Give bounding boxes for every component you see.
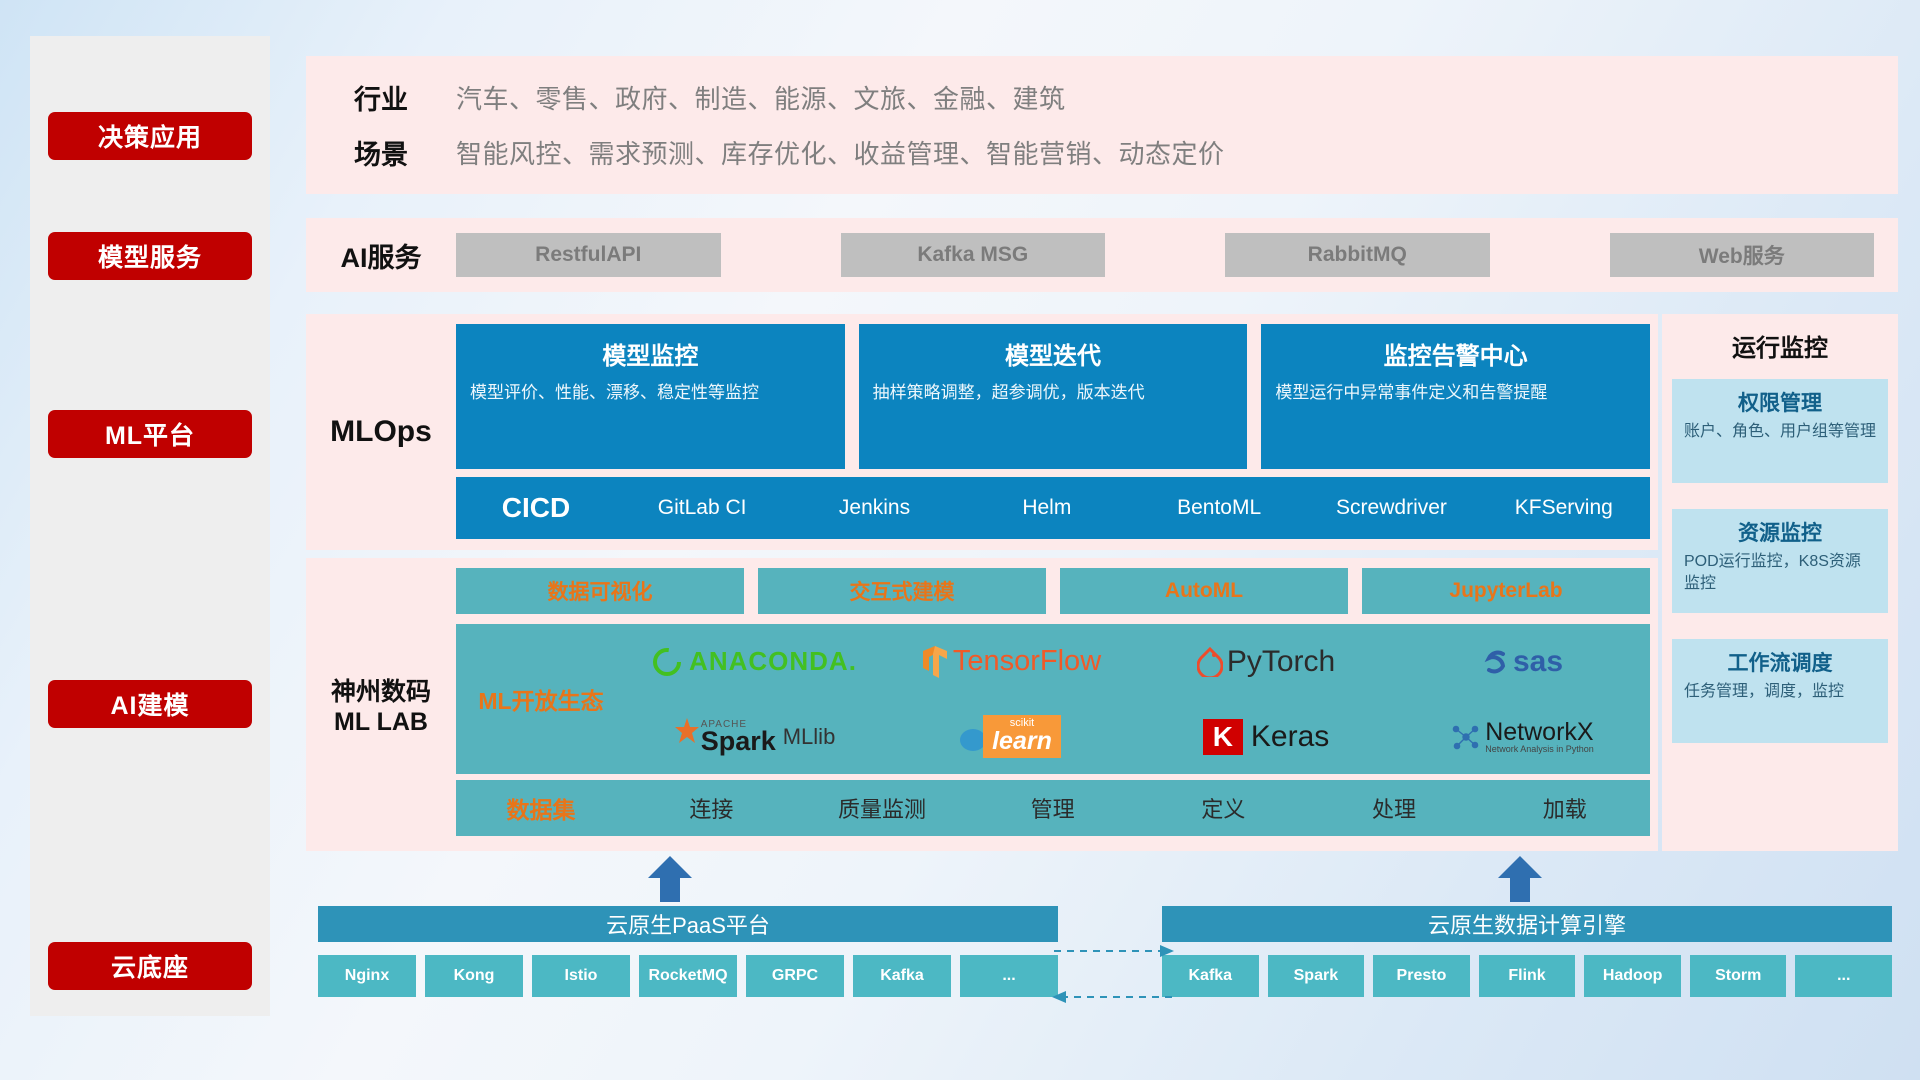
dataset-item-define[interactable]: 定义	[1138, 792, 1309, 824]
tool-tab-jupyterlab[interactable]: JupyterLab	[1362, 568, 1650, 614]
chip-rocketmq[interactable]: RocketMQ	[639, 955, 737, 997]
logo-spark-mllib[interactable]: APACHE Spark MLlib	[626, 717, 882, 757]
arrow-up-dataengine-icon	[1490, 856, 1550, 902]
card-title: 工作流调度	[1684, 647, 1876, 677]
logo-text: PyTorch	[1227, 645, 1335, 679]
logo-text: TensorFlow	[953, 645, 1101, 678]
data-engine-chip-row: Kafka Spark Presto Flink Hadoop Storm ..…	[1162, 955, 1892, 997]
card-title: 模型迭代	[873, 336, 1234, 371]
mllab-label-line2: ML LAB	[334, 708, 428, 737]
mlops-label: MLOps	[330, 415, 432, 449]
logo-grid: ANACONDA. TensorFlow PyTorch	[626, 624, 1650, 774]
logo-text: Spark	[701, 729, 776, 753]
cicd-item-gitlab-ci[interactable]: GitLab CI	[616, 497, 788, 519]
logo-sub: Network Analysis in Python	[1485, 745, 1594, 754]
mlops-card-model-monitoring[interactable]: 模型监控 模型评价、性能、漂移、稳定性等监控	[456, 324, 845, 469]
band-decision-apps: 行业 汽车、零售、政府、制造、能源、文旅、金融、建筑 场景 智能风控、需求预测、…	[306, 56, 1898, 194]
chip-kong[interactable]: Kong	[425, 955, 523, 997]
cicd-item-jenkins[interactable]: Jenkins	[788, 497, 960, 519]
scenario-value: 智能风控、需求预测、库存优化、收益管理、智能营销、动态定价	[456, 134, 1225, 171]
tool-tab-data-visualization[interactable]: 数据可视化	[456, 568, 744, 614]
stage-chip-ml-platform[interactable]: ML平台	[48, 410, 252, 458]
card-desc: POD运行监控，K8S资源监控	[1684, 551, 1876, 596]
logo-anaconda[interactable]: ANACONDA.	[626, 646, 882, 678]
stage-chip-label: 云底座	[111, 948, 189, 984]
chip-kafka[interactable]: Kafka	[1162, 955, 1259, 997]
paas-chip-row: Nginx Kong Istio RocketMQ GRPC Kafka ...	[318, 955, 1058, 997]
logo-sas[interactable]: sas	[1394, 645, 1650, 679]
cicd-item-helm[interactable]: Helm	[961, 497, 1133, 519]
stage-chip-label: AI建模	[110, 686, 189, 722]
chip-more[interactable]: ...	[1795, 955, 1892, 997]
chip-kafka[interactable]: Kafka	[853, 955, 951, 997]
cicd-item-kfserving[interactable]: KFServing	[1478, 497, 1650, 519]
cicd-bar: CICD GitLab CI Jenkins Helm BentoML Scre…	[456, 477, 1650, 539]
dataset-item-process[interactable]: 处理	[1309, 792, 1480, 824]
logo-scikit-learn[interactable]: scikit learn	[882, 715, 1138, 758]
monitoring-card-permissions[interactable]: 权限管理 账户、角色、用户组等管理	[1672, 379, 1888, 483]
dataset-item-connect[interactable]: 连接	[626, 792, 797, 824]
tensorflow-icon	[919, 645, 949, 679]
card-desc: 抽样策略调整，超参调优，版本迭代	[873, 381, 1234, 406]
monitoring-card-resources[interactable]: 资源监控 POD运行监控，K8S资源监控	[1672, 509, 1888, 613]
ai-service-web[interactable]: Web服务	[1610, 233, 1875, 277]
ai-service-label-text: RabbitMQ	[1308, 243, 1407, 267]
sas-icon	[1481, 647, 1511, 677]
cloud-connector-arrows-icon	[1050, 935, 1176, 1015]
chip-nginx[interactable]: Nginx	[318, 955, 416, 997]
cicd-title: CICD	[456, 492, 616, 524]
architecture-diagram: 决策应用 模型服务 ML平台 AI建模 云底座 行业 汽车、零售、政府、制造、能…	[0, 0, 1920, 1080]
stage-chip-model-service[interactable]: 模型服务	[48, 232, 252, 280]
eco-label: ML开放生态	[456, 624, 626, 774]
dataset-item-manage[interactable]: 管理	[967, 792, 1138, 824]
logo-text: NetworkX	[1485, 719, 1593, 745]
scenario-row: 场景 智能风控、需求预测、库存优化、收益管理、智能营销、动态定价	[306, 125, 1898, 180]
ai-service-label-text: RestfulAPI	[535, 243, 641, 267]
ai-service-rabbitmq[interactable]: RabbitMQ	[1225, 233, 1490, 277]
card-desc: 任务管理，调度，监控	[1684, 681, 1876, 703]
mllab-label-line1: 神州数码	[331, 672, 431, 708]
stage-chip-decision[interactable]: 决策应用	[48, 112, 252, 160]
arrow-up-paas-icon	[640, 856, 700, 902]
industry-label: 行业	[306, 78, 456, 117]
logo-networkx[interactable]: NetworkX Network Analysis in Python	[1394, 719, 1650, 755]
card-title: 模型监控	[470, 336, 831, 371]
chip-istio[interactable]: Istio	[532, 955, 630, 997]
monitoring-header: 运行监控	[1672, 328, 1888, 363]
chip-hadoop[interactable]: Hadoop	[1584, 955, 1681, 997]
ai-service-label-text: Web服务	[1699, 240, 1785, 270]
industry-value: 汽车、零售、政府、制造、能源、文旅、金融、建筑	[456, 79, 1066, 116]
spark-star-icon	[673, 717, 701, 745]
logo-text: learn	[992, 729, 1052, 754]
stage-chip-cloud-base[interactable]: 云底座	[48, 942, 252, 990]
card-title: 权限管理	[1684, 387, 1876, 417]
dataset-bar: 数据集 连接 质量监测 管理 定义 处理 加载	[456, 780, 1650, 836]
card-desc: 模型运行中异常事件定义和告警提醒	[1275, 381, 1636, 406]
chip-presto[interactable]: Presto	[1373, 955, 1470, 997]
stage-chip-ai-modeling[interactable]: AI建模	[48, 680, 252, 728]
logo-text: Keras	[1251, 720, 1329, 754]
chip-spark[interactable]: Spark	[1268, 955, 1365, 997]
mlops-card-alert-center[interactable]: 监控告警中心 模型运行中异常事件定义和告警提醒	[1261, 324, 1650, 469]
band-mlops: MLOps 模型监控 模型评价、性能、漂移、稳定性等监控 模型迭代 抽样策略调整…	[306, 314, 1658, 550]
scenario-label: 场景	[306, 133, 456, 172]
anaconda-icon	[651, 646, 683, 678]
card-desc: 账户、角色、用户组等管理	[1684, 421, 1876, 443]
stage-rail: 决策应用 模型服务 ML平台 AI建模 云底座	[30, 36, 270, 1016]
paas-title-bar[interactable]: 云原生PaaS平台	[318, 906, 1058, 942]
chip-more[interactable]: ...	[960, 955, 1058, 997]
logo-suffix: MLlib	[783, 724, 836, 750]
logo-text: ANACONDA.	[689, 646, 857, 677]
band-model-service: AI服务 RestfulAPI Kafka MSG RabbitMQ Web服务	[306, 218, 1898, 292]
logo-keras[interactable]: K Keras	[1138, 719, 1394, 755]
card-title: 资源监控	[1684, 517, 1876, 547]
dataset-item-load[interactable]: 加载	[1479, 792, 1650, 824]
stage-chip-label: 模型服务	[98, 238, 202, 274]
industry-row: 行业 汽车、零售、政府、制造、能源、文旅、金融、建筑	[306, 70, 1898, 125]
ai-service-kafka-msg[interactable]: Kafka MSG	[841, 233, 1106, 277]
logo-tensorflow[interactable]: TensorFlow	[882, 645, 1138, 679]
band-ai-modeling: 神州数码 ML LAB 数据可视化 交互式建模 AutoML JupyterLa…	[306, 558, 1658, 851]
ml-open-ecosystem-panel: ML开放生态 ANACONDA. TensorFlow	[456, 624, 1650, 774]
monitoring-column: 运行监控 权限管理 账户、角色、用户组等管理 资源监控 POD运行监控，K8S资…	[1662, 314, 1898, 851]
tool-tab-automl[interactable]: AutoML	[1060, 568, 1348, 614]
keras-mark: K	[1203, 719, 1243, 755]
ai-service-label-text: Kafka MSG	[917, 243, 1028, 267]
chip-grpc[interactable]: GRPC	[746, 955, 844, 997]
cicd-item-bentoml[interactable]: BentoML	[1133, 497, 1305, 519]
cicd-item-screwdriver[interactable]: Screwdriver	[1305, 497, 1477, 519]
ai-service-label: AI服务	[306, 236, 456, 275]
dataset-item-quality[interactable]: 质量监测	[797, 792, 968, 824]
data-engine-title-bar[interactable]: 云原生数据计算引擎	[1162, 906, 1892, 942]
paas-group: 云原生PaaS平台 Nginx Kong Istio RocketMQ GRPC…	[318, 906, 1058, 997]
tool-tab-interactive-modeling[interactable]: 交互式建模	[758, 568, 1046, 614]
monitoring-card-workflow[interactable]: 工作流调度 任务管理，调度，监控	[1672, 639, 1888, 743]
dataset-title: 数据集	[456, 791, 626, 825]
logo-text: sas	[1513, 645, 1563, 679]
card-title: 监控告警中心	[1275, 336, 1636, 371]
logo-pytorch[interactable]: PyTorch	[1138, 645, 1394, 679]
card-desc: 模型评价、性能、漂移、稳定性等监控	[470, 381, 831, 406]
chip-storm[interactable]: Storm	[1690, 955, 1787, 997]
stage-chip-label: 决策应用	[98, 118, 202, 154]
mlops-card-model-iteration[interactable]: 模型迭代 抽样策略调整，超参调优，版本迭代	[859, 324, 1248, 469]
pytorch-icon	[1197, 647, 1223, 677]
chip-flink[interactable]: Flink	[1479, 955, 1576, 997]
stage-chip-label: ML平台	[105, 416, 195, 452]
networkx-graph-icon	[1450, 722, 1480, 752]
ai-service-restfulapi[interactable]: RestfulAPI	[456, 233, 721, 277]
data-engine-group: 云原生数据计算引擎 Kafka Spark Presto Flink Hadoo…	[1162, 906, 1892, 997]
